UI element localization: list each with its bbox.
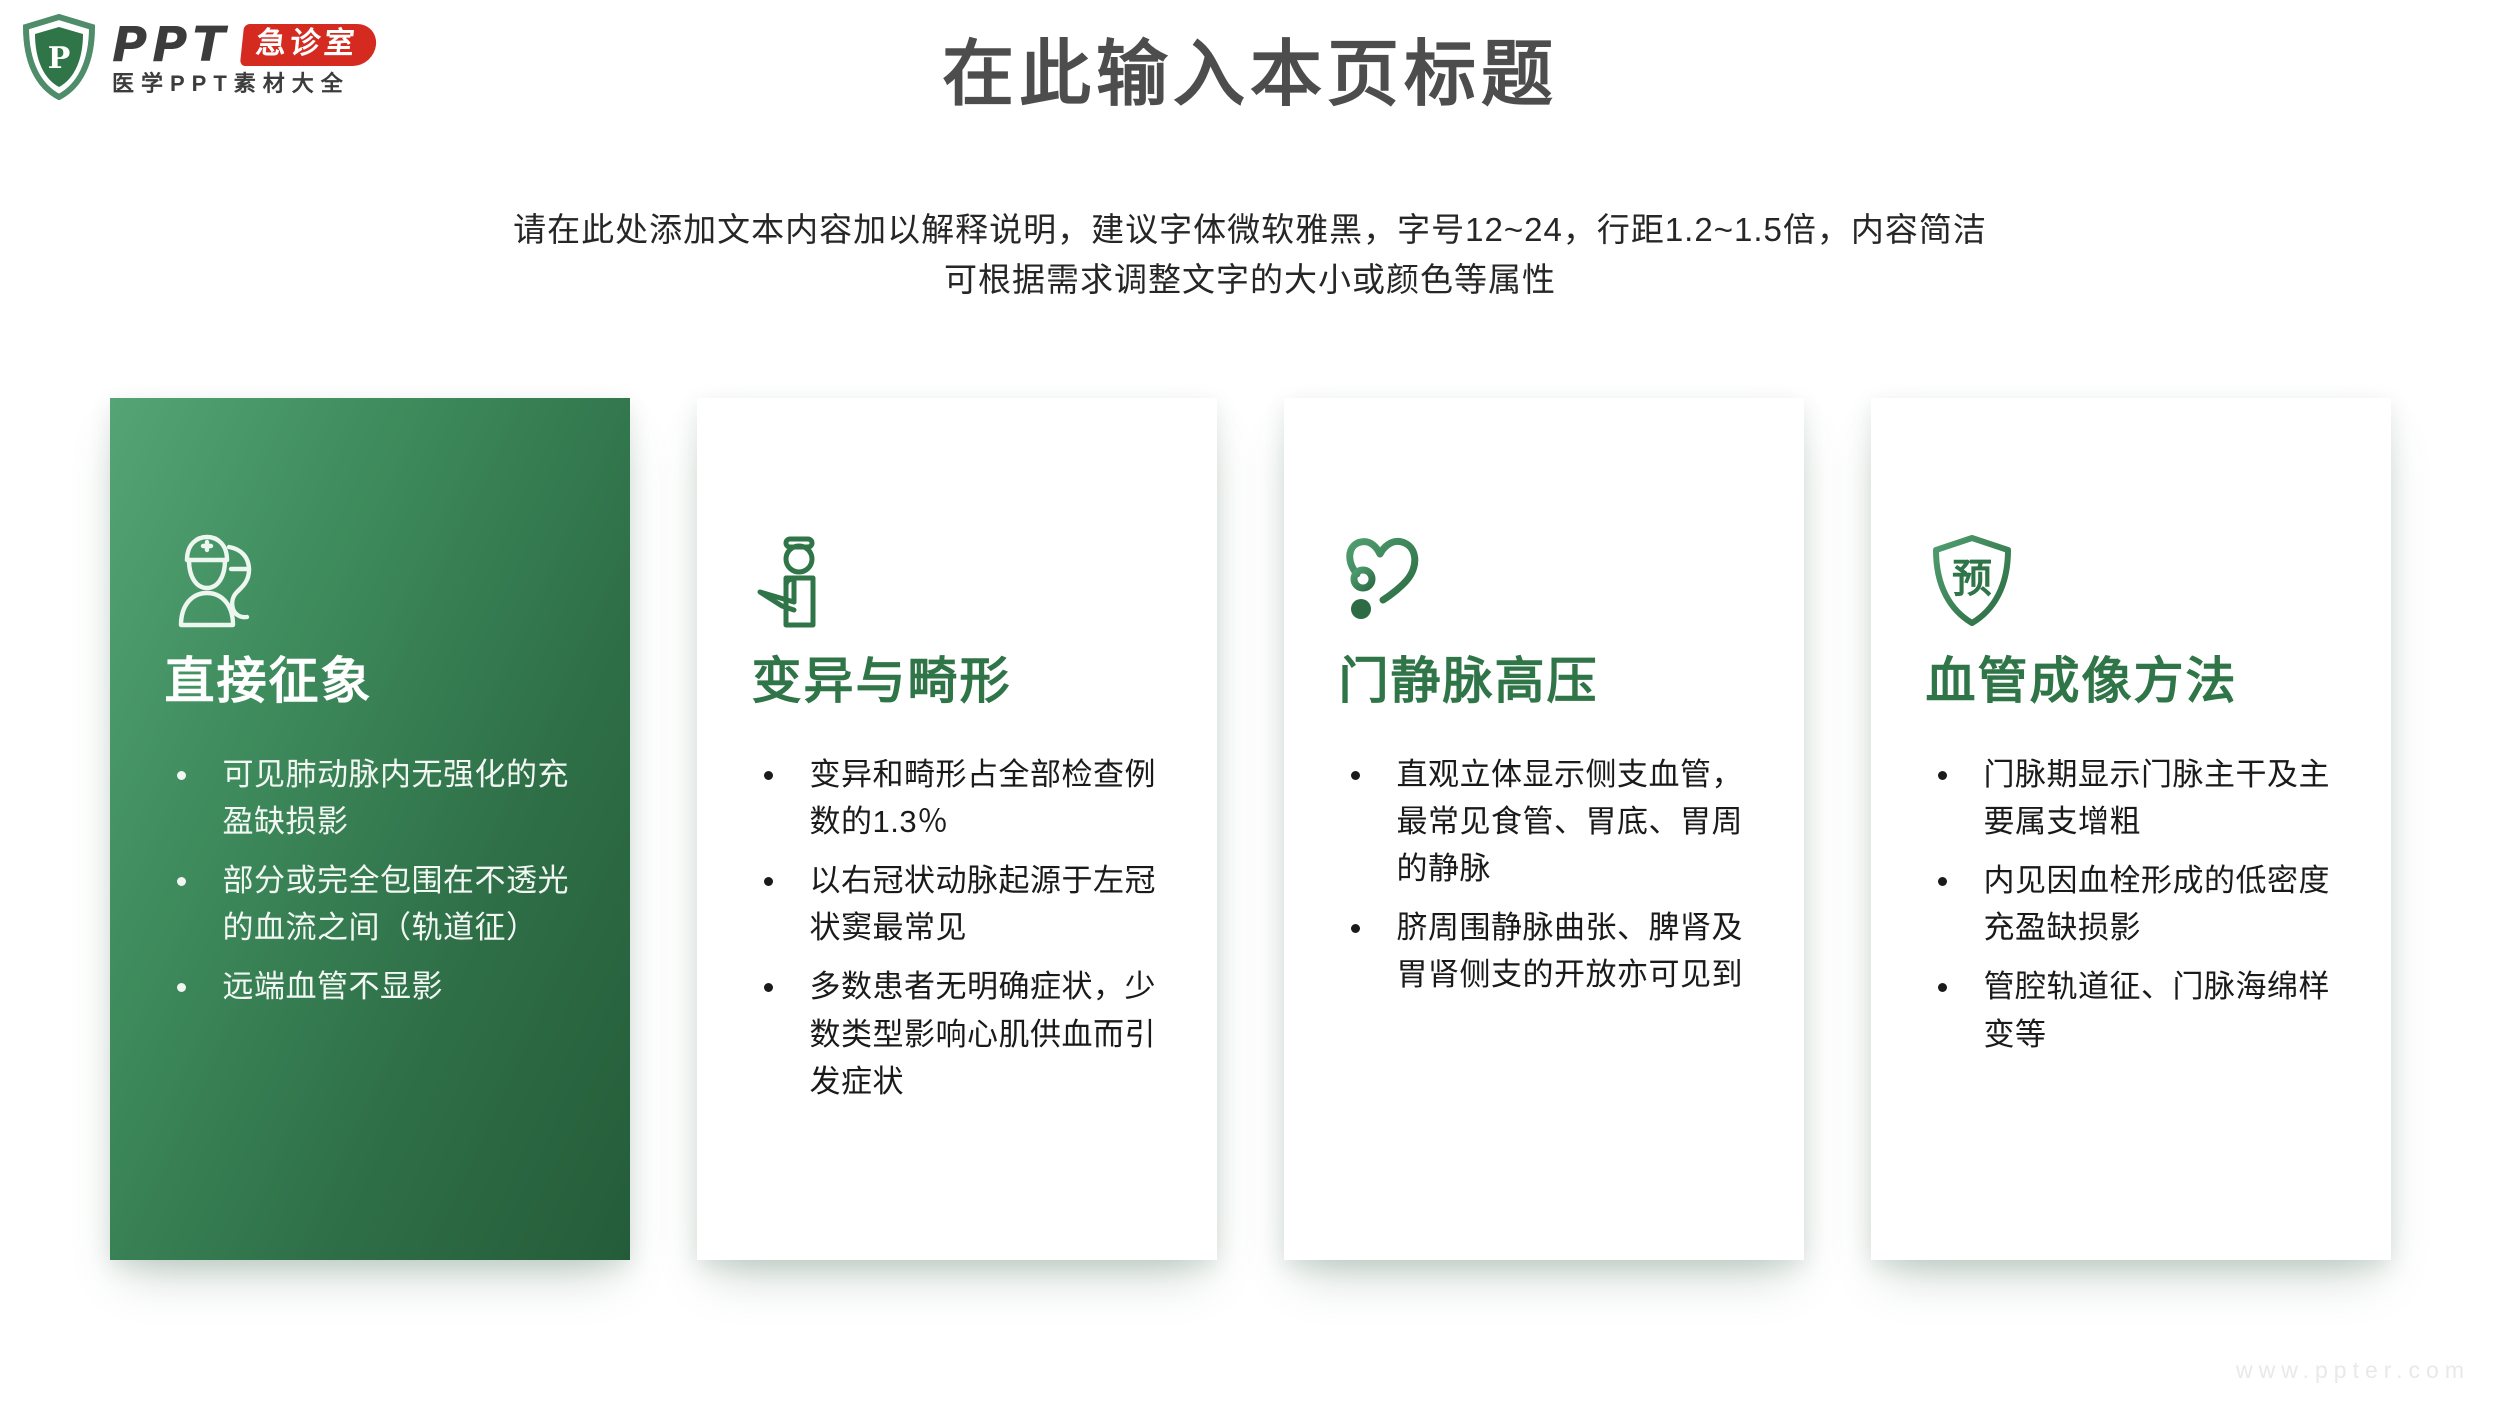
page-subtitle: 请在此处添加文本内容加以解释说明，建议字体微软雅黑，字号12~24，行距1.2~…	[0, 205, 2500, 304]
card-portal-hypertension[interactable]: 门静脉高压 直观立体显示侧支血管，最常见食管、胃底、胃周的静脉 脐周围静脉曲张、…	[1284, 398, 1804, 1260]
list-item: 以右冠状动脉起源于左冠状窦最常见	[752, 857, 1162, 951]
subtitle-line-2: 可根据需求调整文字的大小或颜色等属性	[0, 255, 2500, 305]
subtitle-line-1: 请在此处添加文本内容加以解释说明，建议字体微软雅黑，字号12~24，行距1.2~…	[0, 205, 2500, 255]
page-title: 在此输入本页标题	[0, 36, 2500, 115]
list-item: 管腔轨道征、门脉海绵样变等	[1926, 963, 2336, 1057]
heart-stethoscope-icon	[1339, 516, 1749, 634]
patient-hand-icon	[752, 516, 1162, 634]
list-item: 多数患者无明确症状，少数类型影响心肌供血而引发症状	[752, 963, 1162, 1104]
list-item: 可见肺动脉内无强化的充盈缺损影	[165, 751, 575, 845]
card-title: 直接征象	[165, 654, 575, 709]
card-bullet-list: 可见肺动脉内无强化的充盈缺损影 部分或完全包围在不透光的血流之间（轨道征） 远端…	[165, 751, 575, 1011]
site-watermark: www.ppter.com	[2236, 1357, 2470, 1384]
card-bullet-list: 直观立体显示侧支血管，最常见食管、胃底、胃周的静脉 脐周围静脉曲张、脾肾及胃肾侧…	[1339, 751, 1749, 999]
card-vascular-imaging[interactable]: 预 血管成像方法 门脉期显示门脉主干及主要属支增粗 内见因血栓形成的低密度充盈缺…	[1871, 398, 2391, 1260]
card-row: 直接征象 可见肺动脉内无强化的充盈缺损影 部分或完全包围在不透光的血流之间（轨道…	[0, 398, 2500, 1268]
list-item: 内见因血栓形成的低密度充盈缺损影	[1926, 857, 2336, 951]
card-title: 血管成像方法	[1926, 654, 2336, 709]
svg-text:预: 预	[1952, 556, 1992, 602]
list-item: 远端血管不显影	[165, 963, 575, 1010]
card-bullet-list: 门脉期显示门脉主干及主要属支增粗 内见因血栓形成的低密度充盈缺损影 管腔轨道征、…	[1926, 751, 2336, 1058]
doctor-icon	[165, 516, 575, 634]
card-direct-signs[interactable]: 直接征象 可见肺动脉内无强化的充盈缺损影 部分或完全包围在不透光的血流之间（轨道…	[110, 398, 630, 1260]
list-item: 变异和畸形占全部检查例数的1.3％	[752, 751, 1162, 845]
list-item: 脐周围静脉曲张、脾肾及胃肾侧支的开放亦可见到	[1339, 904, 1749, 998]
card-title: 变异与畸形	[752, 654, 1162, 709]
card-bullet-list: 变异和畸形占全部检查例数的1.3％ 以右冠状动脉起源于左冠状窦最常见 多数患者无…	[752, 751, 1162, 1105]
list-item: 直观立体显示侧支血管，最常见食管、胃底、胃周的静脉	[1339, 751, 1749, 892]
card-variation-malformation[interactable]: 变异与畸形 变异和畸形占全部检查例数的1.3％ 以右冠状动脉起源于左冠状窦最常见…	[697, 398, 1217, 1260]
list-item: 门脉期显示门脉主干及主要属支增粗	[1926, 751, 2336, 845]
card-title: 门静脉高压	[1339, 654, 1749, 709]
shield-prevention-icon: 预	[1926, 516, 2336, 634]
list-item: 部分或完全包围在不透光的血流之间（轨道征）	[165, 857, 575, 951]
